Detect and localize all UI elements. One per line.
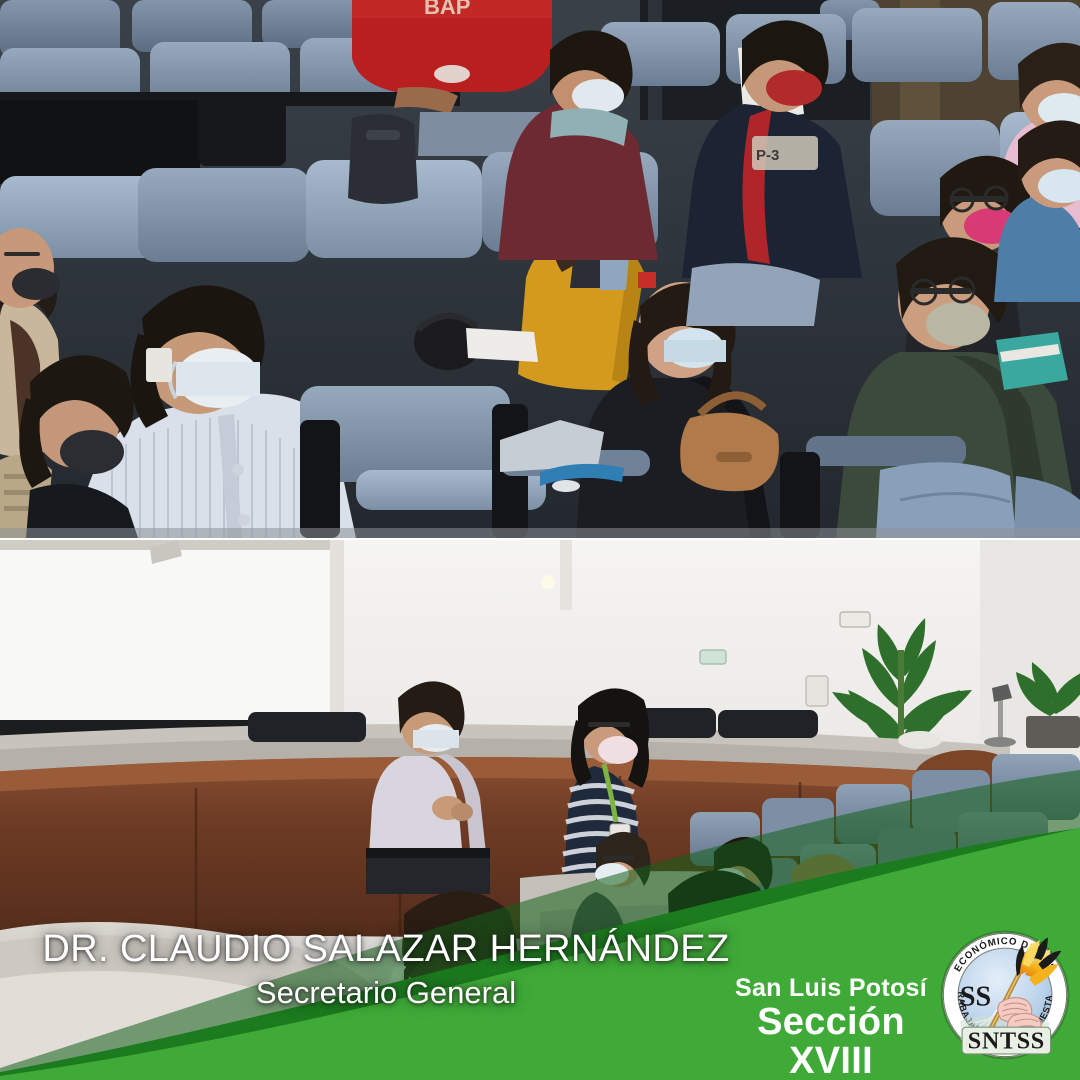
lockup-city: San Luis Potosí [726, 975, 936, 1003]
svg-text:BAP: BAP [424, 0, 470, 19]
auditorium-audience-photo: BAP [0, 0, 1080, 538]
sntss-emblem: ECONÓMICO DE LOS TRABAJADORES Y BIENESTA… [938, 928, 1072, 1062]
svg-text:P-3: P-3 [756, 147, 779, 164]
svg-text:SS: SS [960, 982, 991, 1013]
emblem-acronym: SNTSS [968, 1029, 1045, 1055]
section-lockup: San Luis Potosí Sección XVIII [726, 975, 936, 1080]
emblem-initials: SS [960, 982, 991, 1013]
lockup-section: Sección XVIII [726, 1003, 936, 1080]
photo-card: BAP [0, 0, 1080, 1080]
